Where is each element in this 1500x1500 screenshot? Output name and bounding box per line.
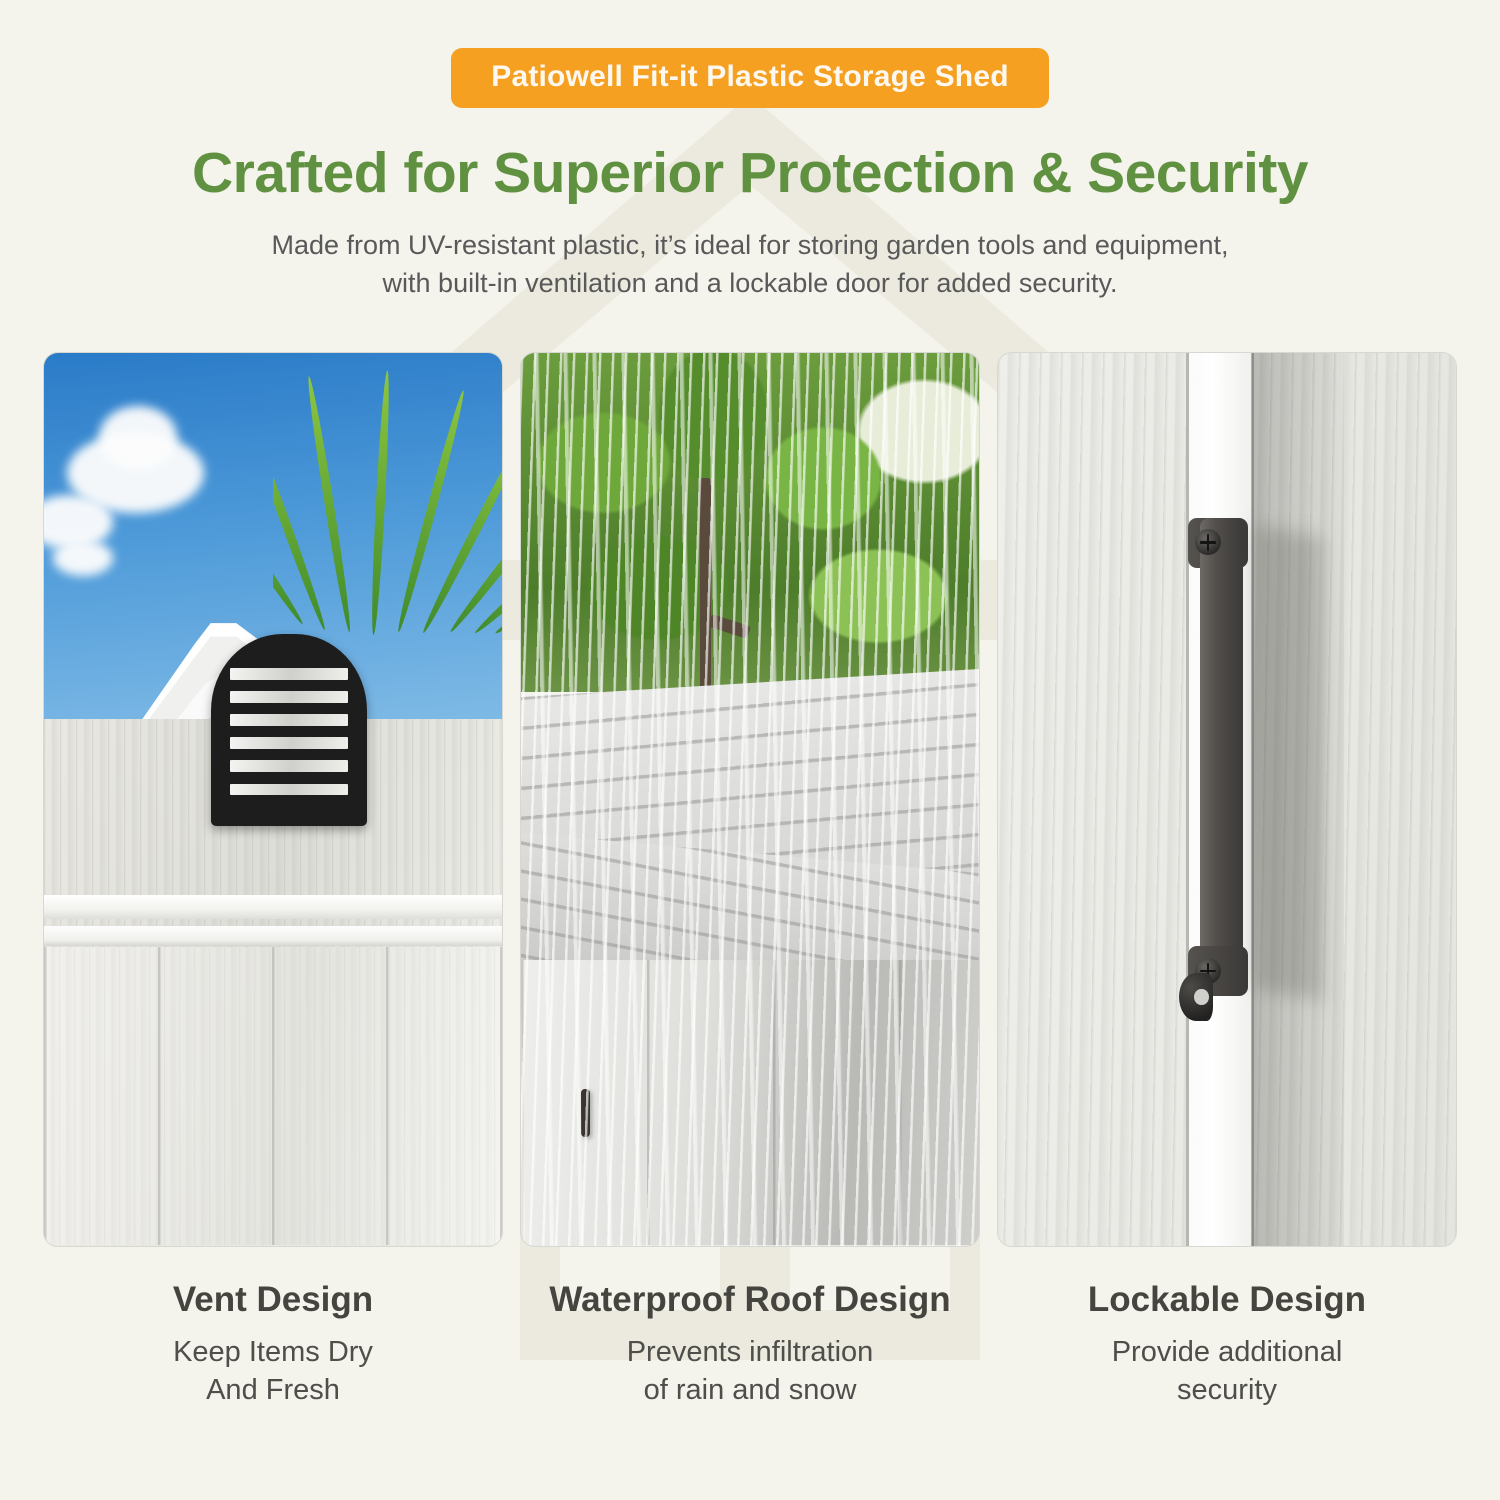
card-sub-line-2: And Fresh	[206, 1374, 340, 1406]
wall-trim-lower	[44, 926, 502, 947]
card-subtitle-waterproof: Prevents infiltration of rain and snow	[627, 1333, 874, 1410]
header: Patiowell Fit-it Plastic Storage Shed Cr…	[0, 0, 1500, 303]
door-handle-icon	[1200, 518, 1244, 991]
vertical-siding	[44, 947, 502, 1245]
card-sub-line-1: Keep Items Dry	[173, 1336, 373, 1368]
cloud-icon	[99, 406, 177, 469]
screw-icon	[1195, 529, 1221, 555]
cloud-icon	[53, 540, 113, 576]
vent-design-photo	[43, 352, 503, 1247]
feature-card-list: Vent Design Keep Items Dry And Fresh Wat…	[44, 352, 1456, 1410]
card-sub-line-1: Provide additional	[1112, 1336, 1343, 1368]
page-title: Crafted for Superior Protection & Securi…	[0, 144, 1500, 204]
card-title-waterproof: Waterproof Roof Design	[549, 1281, 950, 1320]
card-sub-line-1: Prevents infiltration	[627, 1336, 874, 1368]
subtitle-line-1: Made from UV-resistant plastic, it’s ide…	[272, 230, 1229, 260]
door-seam	[1186, 353, 1189, 1246]
card-title-lockable: Lockable Design	[1088, 1281, 1366, 1320]
lockable-design-photo	[997, 352, 1457, 1247]
card-sub-line-2: security	[1177, 1374, 1277, 1406]
door-handle-icon	[581, 1089, 590, 1137]
handle-cast-shadow	[1254, 526, 1323, 1001]
waterproof-roof-photo	[520, 352, 980, 1247]
feature-card-lockable: Lockable Design Provide additional secur…	[998, 352, 1456, 1410]
louvered-vent-icon	[211, 634, 367, 826]
card-title-vent: Vent Design	[173, 1281, 373, 1320]
padlock-hole	[1194, 989, 1208, 1005]
card-subtitle-lockable: Provide additional security	[1112, 1333, 1343, 1410]
page-subtitle: Made from UV-resistant plastic, it’s ide…	[160, 226, 1340, 303]
subtitle-line-2: with built-in ventilation and a lockable…	[383, 268, 1118, 298]
feature-card-vent: Vent Design Keep Items Dry And Fresh	[44, 352, 502, 1410]
card-sub-line-2: of rain and snow	[644, 1374, 857, 1406]
card-subtitle-vent: Keep Items Dry And Fresh	[173, 1333, 373, 1410]
product-badge: Patiowell Fit-it Plastic Storage Shed	[451, 48, 1049, 108]
lock-hasp-icon	[1179, 973, 1213, 1021]
feature-card-waterproof-roof: Waterproof Roof Design Prevents infiltra…	[521, 352, 979, 1410]
wall-trim-upper	[44, 895, 502, 918]
